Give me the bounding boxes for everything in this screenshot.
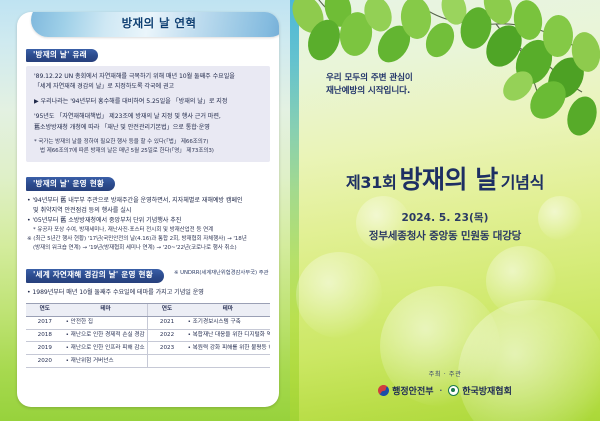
theme-history-table: 연도 테마 연도 테마 2017 • 안전한 집 2021 • 조기경보시스템 … [26, 303, 270, 368]
bokeh-light [458, 300, 600, 421]
left-page-title: 방재의 날 연혁 [122, 15, 197, 31]
body-line: * 국가는 방재의 날을 정하여 필요한 행사 등을 할 수 있다(「법」 제6… [34, 138, 263, 147]
brochure-spread: 방재의 날 연혁 '방재의 날' 유래 '89.12.22 UN 총회에서 자연… [0, 0, 600, 421]
cell-year: 2021 [148, 316, 185, 329]
cell-year [148, 355, 185, 368]
host-primary-label: 행정안전부 [392, 384, 433, 397]
body-line: '95년도 「자연재해대책법」 제23조에 방재의 날 지정 및 행사 근거 마… [34, 112, 263, 122]
body-line: * 유공자 포상 수여, 방재세미나, 재난사진·포스터 전시회 및 방재산업전… [27, 226, 270, 235]
cell-theme: • 복합재난 대응을 위한 디지털화 역량 강화 [185, 329, 270, 342]
event-venue: 정부세종청사 중앙동 민원동 대강당 [290, 228, 600, 243]
section-world-day-note: ※ UNDRR(세계재난위험경감사무국) 주관 [174, 268, 269, 276]
slogan-line-1: 우리 모두의 주변 관심이 [326, 72, 413, 85]
section-origin-body: '89.12.22 UN 총회에서 자연재해를 극복하기 위해 매년 10월 둘… [26, 66, 270, 161]
cell-year: 2023 [148, 342, 185, 355]
section-origin: '방재의 날' 유래 '89.12.22 UN 총회에서 자연재해를 극복하기 … [26, 42, 270, 162]
right-page: 우리 모두의 주변 관심이 재난예방의 시작입니다. 제31회방재의 날기념식 … [290, 0, 600, 421]
table-header-row: 연도 테마 연도 테마 [26, 303, 270, 316]
body-line: 舊소방방재청 개청에 따라 「재난 및 안전관리기본법」으로 통합·운영 [34, 123, 263, 133]
taegeuk-logo-icon [378, 385, 389, 396]
host-section: 주최 · 주관 행정안전부 · 한국방재협회 [290, 369, 600, 397]
event-title-main: 방재의 날 [400, 165, 498, 194]
host-label: 주최 · 주관 [290, 369, 600, 378]
section-world-day-tag: '세계 자연재해 경감의 날' 운영 현황 [26, 269, 164, 283]
bokeh-light [296, 252, 382, 338]
host-secondary-label: 한국방재협회 [462, 384, 512, 397]
bokeh-light [486, 246, 556, 316]
cell-year: 2020 [26, 355, 63, 368]
table-header-year-left: 연도 [26, 303, 63, 316]
cell-year: 2019 [26, 342, 63, 355]
body-line: 및 취약지역 안전점검 등의 행사를 실시 [27, 206, 270, 216]
section-operation: '방재의 날' 운영 현황 • '94년부터 舊 내무부 주관으로 방재주간을 … [26, 171, 270, 254]
section-world-day-body: • 1989년부터 매년 10월 둘째주 수요일에 테마를 가지고 기념일 운영 [26, 288, 270, 298]
body-line: ※ (최근 5년간 행사 현황) '17년(국민안전의 날(4.16)과 통합 … [27, 235, 270, 244]
host-secondary: 한국방재협회 [448, 384, 512, 397]
section-world-day: '세계 자연재해 경감의 날' 운영 현황 ※ UNDRR(세계재난위험경감사무… [26, 262, 270, 368]
left-page-banner: 방재의 날 연혁 [31, 12, 279, 37]
table-header-year-right: 연도 [148, 303, 185, 316]
cell-year: 2018 [26, 329, 63, 342]
event-date: 2024. 5. 23(목) [290, 210, 600, 225]
body-line: • 1989년부터 매년 10월 둘째주 수요일에 테마를 가지고 기념일 운영 [27, 288, 270, 298]
table-row: 2020 • 재난위험 거버넌스 [26, 355, 270, 368]
body-line: '89.12.22 UN 총회에서 자연재해를 극복하기 위해 매년 10월 둘… [34, 72, 263, 82]
cell-theme: • 조기경보시스템 구축 [185, 316, 270, 329]
body-line: 「세계 자연재해 경감의 날」로 지정하도록 각국에 권고 [34, 82, 263, 92]
cell-theme: • 재난으로 인한 경제적 손실 경감 [63, 329, 148, 342]
kdpa-logo-icon [448, 385, 459, 396]
section-operation-tag: '방재의 날' 운영 현황 [26, 177, 115, 191]
left-page: 방재의 날 연혁 '방재의 날' 유래 '89.12.22 UN 총회에서 자연… [0, 0, 290, 421]
body-line: • '05년부터 舊 소방방재청에서 중앙부처 단위 기념행사 추진 [27, 216, 270, 226]
body-line: • '94년부터 舊 내무부 주관으로 방재주간을 운영하면서, 지자체별로 재… [27, 196, 270, 206]
body-line: 법 제66조의7에 따른 방재의 날은 매년 5월 25일로 한다(「영」 제7… [34, 147, 263, 156]
left-content-card: 방재의 날 연혁 '방재의 날' 유래 '89.12.22 UN 총회에서 자연… [17, 12, 279, 407]
slogan-block: 우리 모두의 주변 관심이 재난예방의 시작입니다. [326, 72, 413, 99]
table-header-theme-right: 테마 [185, 303, 270, 316]
cell-year: 2022 [148, 329, 185, 342]
body-line: (방재의 워크숍 연계) → '19년(방재협회 세미나 연계) → '20~'… [27, 244, 270, 253]
host-primary: 행정안전부 [378, 384, 433, 397]
slogan-line-2: 재난예방의 시작입니다. [326, 85, 413, 98]
body-line: ▶ 우리나라는 '94년부터 홍수해를 대비하여 5.25일을 「방재의 날」로… [34, 97, 263, 107]
host-separator: · [439, 387, 444, 395]
cell-theme: • 안전한 집 [63, 316, 148, 329]
table-row: 2018 • 재난으로 인한 경제적 손실 경감 2022 • 복합재난 대응을… [26, 329, 270, 342]
cell-year: 2017 [26, 316, 63, 329]
section-operation-body: • '94년부터 舊 내무부 주관으로 방재주간을 운영하면서, 지자체별로 재… [26, 196, 270, 253]
host-logo-row: 행정안전부 · 한국방재협회 [290, 384, 600, 397]
event-title-suffix: 기념식 [501, 173, 544, 192]
event-title-prefix: 제31회 [346, 173, 397, 192]
cell-theme: • 재난위험 거버넌스 [63, 355, 148, 368]
table-row: 2019 • 재난으로 인한 인프라 피해 감소 2023 • 복원력 강화 피… [26, 342, 270, 355]
cell-theme [185, 355, 270, 368]
table-header-theme-left: 테마 [63, 303, 148, 316]
event-title: 제31회방재의 날기념식 [290, 160, 600, 196]
cell-theme: • 재난으로 인한 인프라 피해 감소 [63, 342, 148, 355]
table-row: 2017 • 안전한 집 2021 • 조기경보시스템 구축 [26, 316, 270, 329]
cell-theme: • 복원력 강화 피해를 위한 불평등 해소 [185, 342, 270, 355]
section-origin-tag: '방재의 날' 유래 [26, 49, 98, 63]
